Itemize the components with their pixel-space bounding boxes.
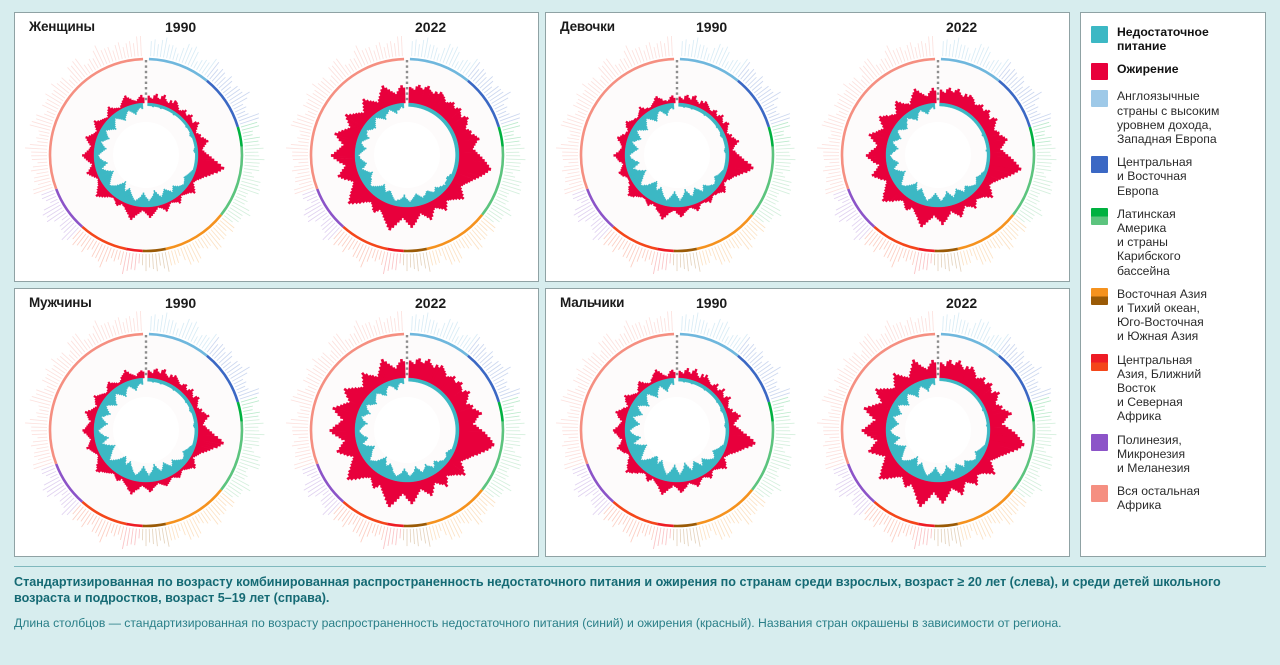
legend-panel: Недостаточное питаниеОжирениеАнглоязычны… <box>1080 12 1266 557</box>
legend-item-label: Вся остальная Африка <box>1117 484 1200 512</box>
legend-item-label: Полинезия, Микронезия и Меланезия <box>1117 433 1190 476</box>
polar-chart-men-2022[interactable] <box>281 300 533 552</box>
polar-chart-girls-1990[interactable] <box>551 25 803 277</box>
infographic-root: Женщины 1990 2022 Девочки 1990 2022 Му <box>0 0 1280 665</box>
legend-swatch-icon <box>1091 485 1108 502</box>
dial-row <box>15 13 538 281</box>
legend-item[interactable]: Восточная Азия и Тихий океан, Юго-Восточ… <box>1091 287 1257 344</box>
legend-item[interactable]: Центральная Азия, Ближний Восток и Север… <box>1091 353 1257 424</box>
polar-chart-boys-2022[interactable] <box>812 300 1064 552</box>
legend-item[interactable]: Недостаточное питание <box>1091 25 1257 53</box>
panel-women: Женщины 1990 2022 <box>14 12 539 282</box>
panel-boys: Мальчики 1990 2022 <box>545 288 1070 558</box>
legend-item-label: Центральная Азия, Ближний Восток и Север… <box>1117 353 1201 424</box>
legend-swatch-icon <box>1091 434 1108 451</box>
polar-chart-girls-2022[interactable] <box>812 25 1064 277</box>
dial-row <box>15 289 538 557</box>
legend-item-label: Центральная и Восточная Европа <box>1117 155 1192 198</box>
legend-item-label: Ожирение <box>1117 62 1178 76</box>
legend-item-label: Латинская Америка и страны Карибского ба… <box>1117 207 1181 278</box>
legend-swatch-icon <box>1091 63 1108 80</box>
legend-swatch-icon <box>1091 90 1108 107</box>
caption-paragraph-1: Стандартизированная по возрасту комбинир… <box>14 574 1266 606</box>
legend-swatch-icon <box>1091 354 1108 371</box>
legend-swatch-icon <box>1091 26 1108 43</box>
legend-item[interactable]: Латинская Америка и страны Карибского ба… <box>1091 207 1257 278</box>
legend-item[interactable]: Ожирение <box>1091 62 1257 80</box>
legend-swatch-icon <box>1091 156 1108 173</box>
legend-item[interactable]: Англоязычные страны с высоким уровнем до… <box>1091 89 1257 146</box>
polar-chart-women-1990[interactable] <box>20 25 272 277</box>
panel-grid: Женщины 1990 2022 Девочки 1990 2022 Му <box>14 12 1070 557</box>
legend-item[interactable]: Центральная и Восточная Европа <box>1091 155 1257 198</box>
panel-girls: Девочки 1990 2022 <box>545 12 1070 282</box>
legend-item-label: Англоязычные страны с высоким уровнем до… <box>1117 89 1219 146</box>
legend-item-label: Недостаточное питание <box>1117 25 1209 53</box>
panel-men: Мужчины 1990 2022 <box>14 288 539 558</box>
legend-swatch-icon <box>1091 288 1108 305</box>
caption-paragraph-2: Длина столбцов — стандартизированная по … <box>14 615 1266 631</box>
legend-item[interactable]: Полинезия, Микронезия и Меланезия <box>1091 433 1257 476</box>
polar-chart-boys-1990[interactable] <box>551 300 803 552</box>
legend-item[interactable]: Вся остальная Африка <box>1091 484 1257 512</box>
caption-divider <box>14 566 1266 567</box>
caption-block: Стандартизированная по возрасту комбинир… <box>14 566 1266 631</box>
polar-chart-women-2022[interactable] <box>281 25 533 277</box>
legend-item-label: Восточная Азия и Тихий океан, Юго-Восточ… <box>1117 287 1207 344</box>
dial-row <box>546 289 1069 557</box>
polar-chart-men-1990[interactable] <box>20 300 272 552</box>
dial-row <box>546 13 1069 281</box>
legend-swatch-icon <box>1091 208 1108 225</box>
